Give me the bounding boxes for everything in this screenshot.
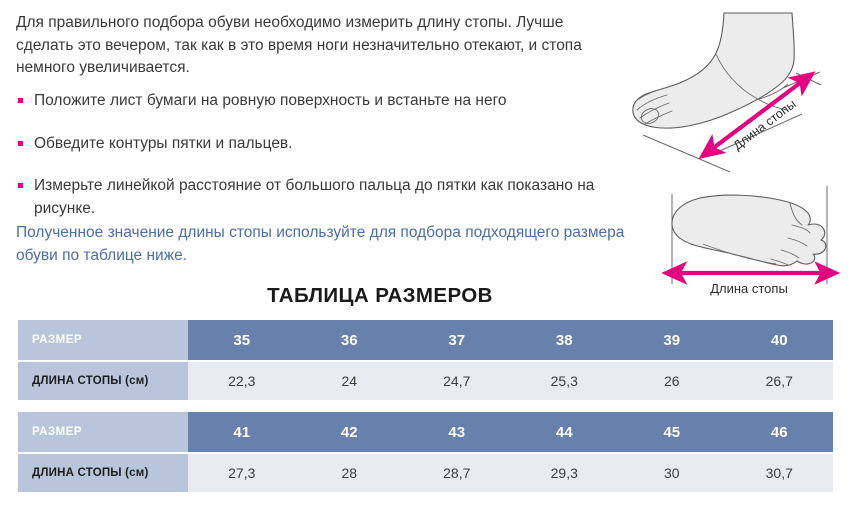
table-header-cell: 39 (618, 320, 726, 360)
table-row: ДЛИНА СТОПЫ (см) 27,3 28 28,7 29,3 30 30… (18, 454, 833, 492)
table-cell: 22,3 (188, 362, 296, 400)
foot-sole-caption: Длина стопы (710, 281, 788, 296)
table-row: РАЗМЕР 35 36 37 38 39 40 (18, 320, 833, 360)
table-cell: 30 (618, 454, 726, 492)
table-cell: 28 (296, 454, 404, 492)
table-cell: 24 (296, 362, 404, 400)
table-header-cell: 37 (403, 320, 511, 360)
table-cell: 26 (618, 362, 726, 400)
table-cell: 25,3 (511, 362, 619, 400)
intro-paragraph-text: Для правильного подбора обуви необходимо… (16, 12, 616, 80)
sole-silhouette (672, 195, 826, 266)
foot-side-view-illustration: Длина стопы (620, 0, 851, 180)
table-header-cell: 41 (188, 412, 296, 452)
list-item: Измерьте линейкой расстояние от большого… (16, 175, 616, 220)
intro-paragraph: Для правильного подбора обуви необходимо… (16, 12, 616, 80)
table-cell: 29,3 (511, 454, 619, 492)
note-paragraph-text: Полученное значение длины стопы использу… (16, 222, 656, 267)
table-row: ДЛИНА СТОПЫ (см) 22,3 24 24,7 25,3 26 26… (18, 362, 833, 400)
list-item-label: Измерьте линейкой расстояние от большого… (34, 177, 594, 217)
table-header-cell: 42 (296, 412, 404, 452)
table-cell: 30,7 (726, 454, 834, 492)
table-header-cell: 44 (511, 412, 619, 452)
instruction-list: Положите лист бумаги на ровную поверхнос… (16, 90, 616, 240)
table-header-cell: 40 (726, 320, 834, 360)
table-header-cell: 35 (188, 320, 296, 360)
row-header-size: РАЗМЕР (18, 320, 188, 360)
list-item: Положите лист бумаги на ровную поверхнос… (16, 90, 616, 113)
table-cell: 28,7 (403, 454, 511, 492)
row-header-foot-length: ДЛИНА СТОПЫ (см) (18, 362, 188, 400)
page-title: ТАБЛИЦА РАЗМЕРОВ (18, 284, 742, 308)
bullet-dot-icon (18, 183, 23, 188)
list-item-label: Обведите контуры пятки и пальцев. (34, 135, 292, 152)
bullet-dot-icon (18, 141, 23, 146)
table-row: РАЗМЕР 41 42 43 44 45 46 (18, 412, 833, 452)
size-table-second: РАЗМЕР 41 42 43 44 45 46 ДЛИНА СТОПЫ (см… (18, 412, 833, 492)
table-header-cell: 43 (403, 412, 511, 452)
list-item-label: Положите лист бумаги на ровную поверхнос… (34, 92, 507, 109)
table-header-cell: 45 (618, 412, 726, 452)
table-header-cell: 38 (511, 320, 619, 360)
row-header-foot-length: ДЛИНА СТОПЫ (см) (18, 454, 188, 492)
table-cell: 26,7 (726, 362, 834, 400)
size-table-first: РАЗМЕР 35 36 37 38 39 40 ДЛИНА СТОПЫ (см… (18, 320, 833, 400)
table-header-cell: 46 (726, 412, 834, 452)
note-paragraph: Полученное значение длины стопы использу… (16, 222, 656, 267)
foot-sole-view-illustration: Длина стопы (640, 180, 851, 310)
table-cell: 24,7 (403, 362, 511, 400)
list-item: Обведите контуры пятки и пальцев. (16, 133, 616, 156)
table-cell: 27,3 (188, 454, 296, 492)
table-header-cell: 36 (296, 320, 404, 360)
row-header-size: РАЗМЕР (18, 412, 188, 452)
bullet-dot-icon (18, 98, 23, 103)
